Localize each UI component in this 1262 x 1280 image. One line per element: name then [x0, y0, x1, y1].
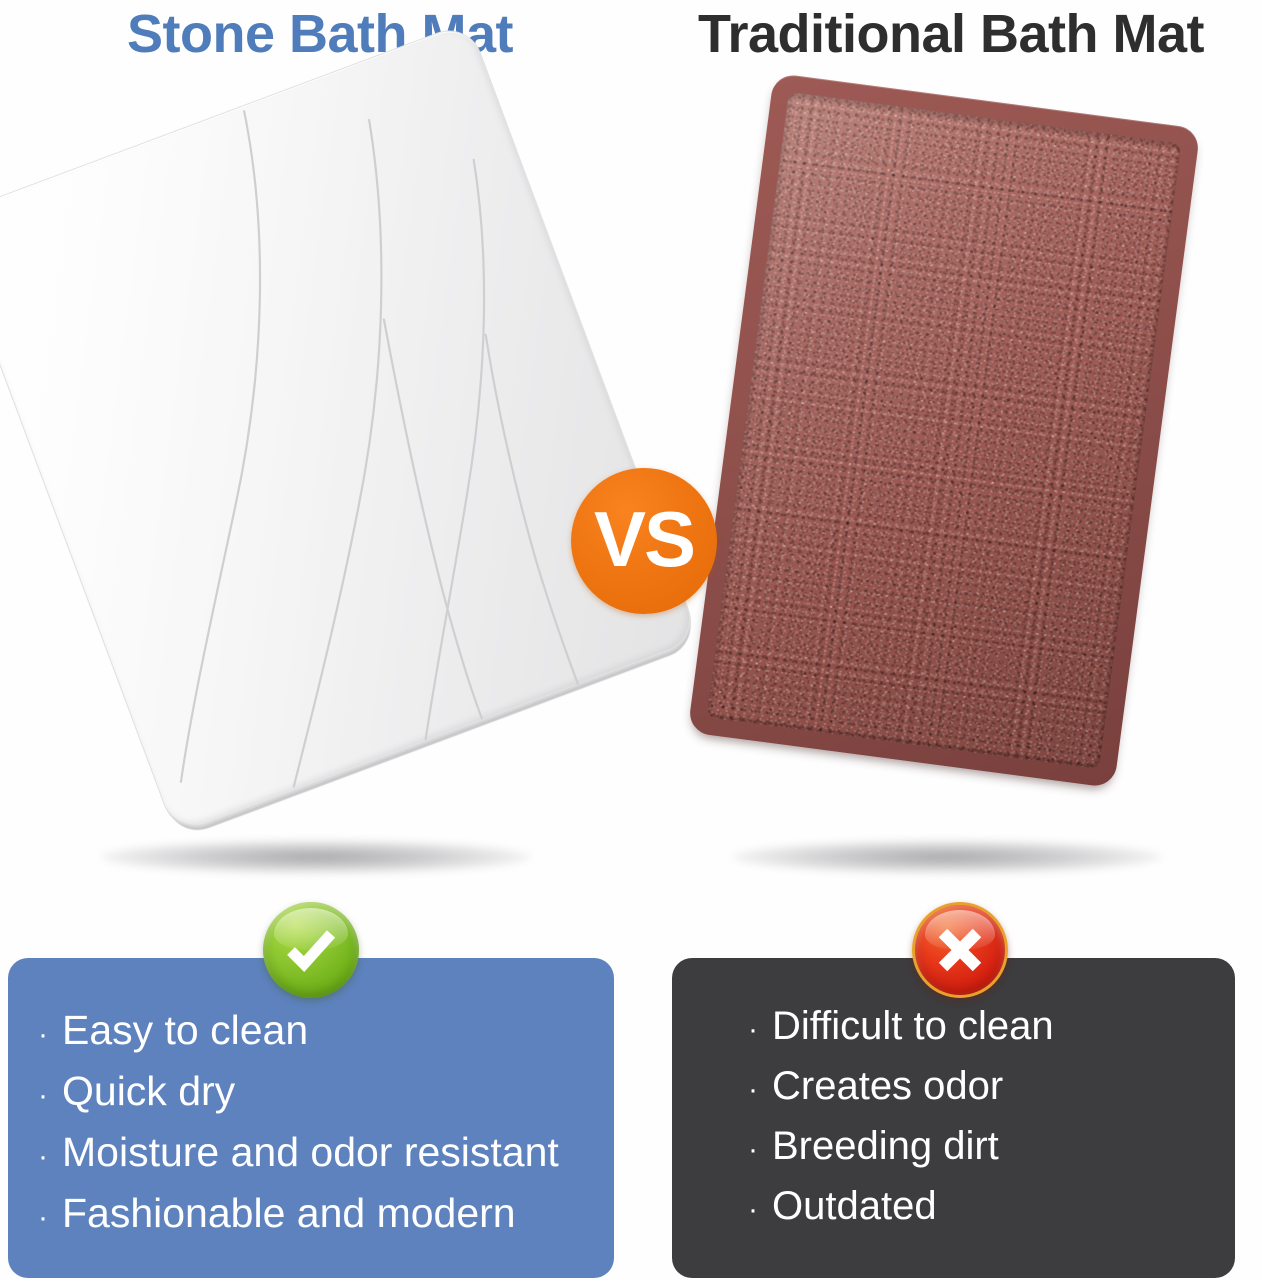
right-features-panel: · Difficult to clean · Creates odor · Br… [672, 958, 1235, 1278]
left-feature-list: · Easy to clean · Quick dry · Moisture a… [38, 1002, 588, 1246]
left-product-title: Stone Bath Mat [0, 0, 640, 68]
cross-circle-icon [912, 902, 1008, 998]
check-mark-icon [282, 921, 340, 979]
stone-bath-mat-graphic [0, 21, 700, 835]
bullet-dot-icon: · [748, 1002, 772, 1058]
stone-mat-groove-pattern [0, 21, 700, 835]
feature-label: Breeding dirt [772, 1118, 999, 1174]
feature-label: Quick dry [62, 1063, 235, 1119]
right-feature-list: · Difficult to clean · Creates odor · Br… [748, 998, 1209, 1238]
bullet-dot-icon: · [38, 1129, 62, 1185]
right-product-title: Traditional Bath Mat [640, 0, 1262, 68]
feature-label: Moisture and odor resistant [62, 1124, 559, 1180]
right-product-image [631, 70, 1262, 900]
versus-badge: VS [571, 468, 717, 614]
list-item: · Creates odor [748, 1058, 1209, 1118]
list-item: · Easy to clean [38, 1002, 588, 1063]
feature-label: Difficult to clean [772, 998, 1054, 1054]
feature-label: Easy to clean [62, 1002, 308, 1058]
x-mark-icon [933, 923, 987, 977]
feature-label: Creates odor [772, 1058, 1003, 1114]
check-circle-icon [263, 902, 359, 998]
right-product-shadow [732, 840, 1162, 874]
left-product-shadow [101, 840, 531, 874]
feature-label: Outdated [772, 1178, 937, 1234]
list-item: · Difficult to clean [748, 998, 1209, 1058]
comparison-infographic: Stone Bath Mat Traditional Bath Mat [0, 0, 1262, 1280]
bullet-dot-icon: · [38, 1007, 62, 1063]
feature-label: Fashionable and modern [62, 1185, 516, 1241]
traditional-bath-mat-graphic [687, 73, 1200, 788]
bullet-dot-icon: · [748, 1062, 772, 1118]
list-item: · Moisture and odor resistant [38, 1124, 588, 1185]
bullet-dot-icon: · [38, 1068, 62, 1124]
bullet-dot-icon: · [38, 1190, 62, 1246]
list-item: · Fashionable and modern [38, 1185, 588, 1246]
traditional-mat-pile-texture [707, 92, 1182, 769]
list-item: · Quick dry [38, 1063, 588, 1124]
left-features-panel: · Easy to clean · Quick dry · Moisture a… [8, 958, 614, 1278]
bullet-dot-icon: · [748, 1122, 772, 1178]
bullet-dot-icon: · [748, 1182, 772, 1238]
left-product-image [0, 70, 631, 900]
list-item: · Breeding dirt [748, 1118, 1209, 1178]
list-item: · Outdated [748, 1178, 1209, 1238]
versus-label: VS [594, 500, 694, 578]
